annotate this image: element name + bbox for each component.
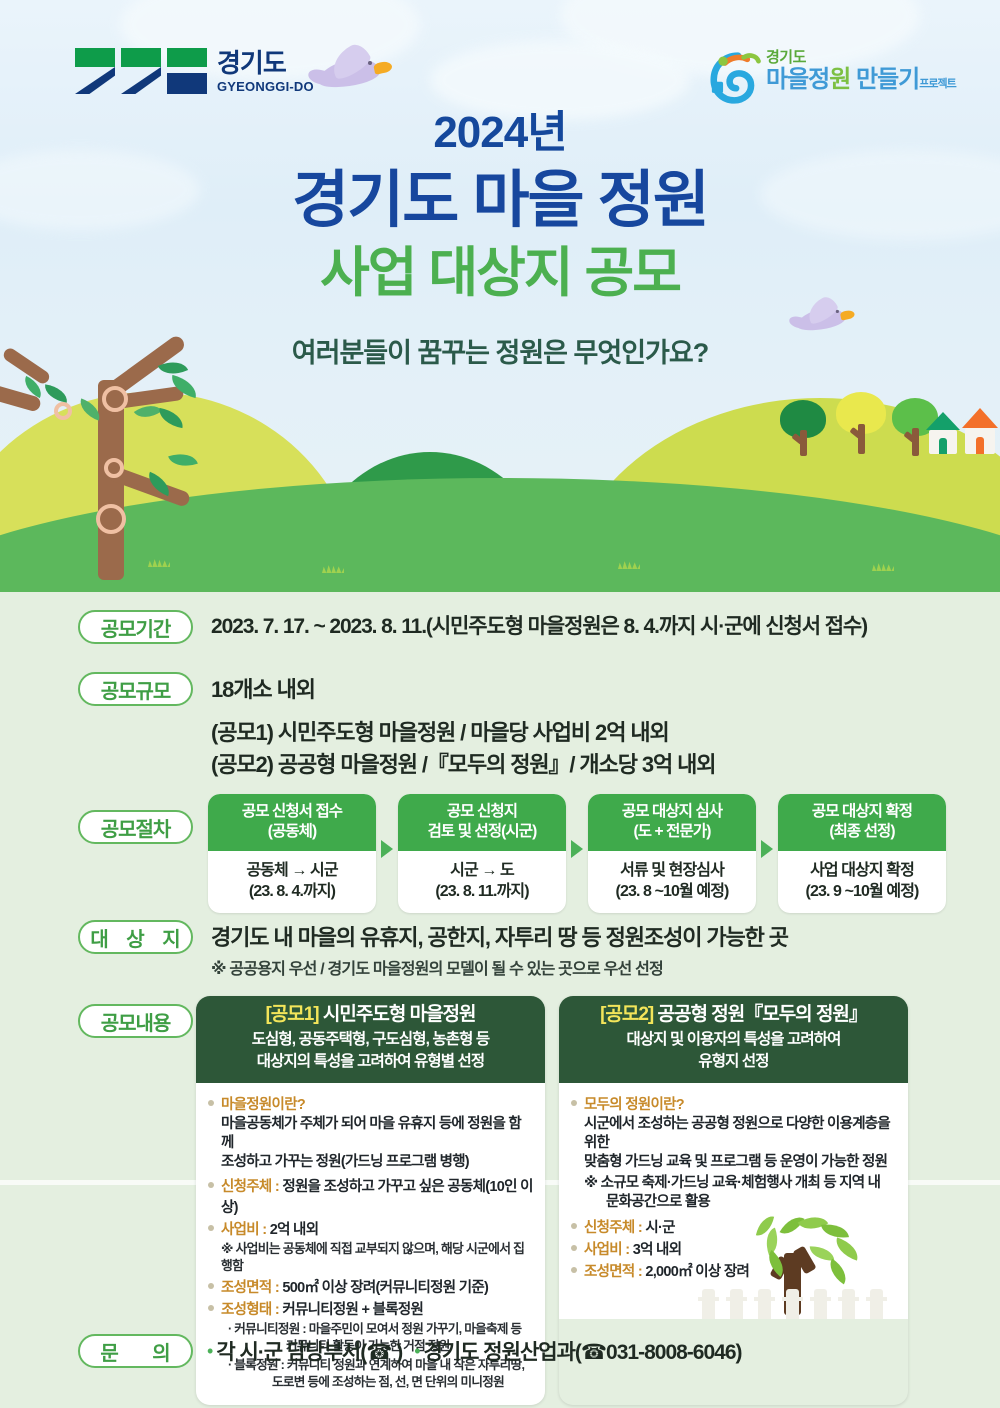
panel-2-note-line2: 문화공간으로 활용 [584,1193,896,1212]
panel-2-header: [공모2] 공공형 정원『모두의 정원』 대상지 및 이용자의 특성을 고려하여… [559,996,908,1083]
panel-1-budget-note: ※ 사업비는 공동체에 직접 교부되지 않으며, 해당 시군에서 집행함 [208,1240,533,1275]
panel-1-tag: [공모1] [265,1004,318,1025]
scale-body: 18개소 내외 (공모1) 시민주도형 마을정원 / 마을당 사업비 2억 내외… [211,672,715,781]
inquiry-text-1: 각 시·군 담당부서(☎ ) [216,1336,402,1366]
flow-arrow-icon [566,838,588,860]
label-inquiry: 문 의 [78,1334,193,1368]
gyeonggi-do-logo: 경기도 GYEONGGI-DO [75,48,314,94]
panel-2-head-label: 모두의 정원이란? [584,1097,684,1113]
panel-2-item-applicant: 신청주체 : 시·군 [571,1216,896,1237]
flow-step-body: 사업 대상지 확정 (23. 9 ~10월 예정) [778,851,946,914]
bullet-dot-icon: • [207,1341,213,1362]
title-slogan: 여러분들이 꿈꾸는 정원은 무엇인가요? [0,331,1000,370]
scale-headline: 18개소 내외 [211,674,715,706]
leaf-icon [43,384,69,402]
picket-fence-icon [702,1285,902,1319]
panel-2-item-note: ※ 소규모 축제·가드닝 교육·체험행사 개최 등 지역 내 문화공간으로 활용 [571,1174,896,1213]
panel-1-item-form: 조성형태 : 커뮤니티정원 + 블록정원 [208,1298,533,1319]
panel-1-item-area: 조성면적 : 500㎡ 이상 장려(커뮤니티정원 기준) [208,1276,533,1297]
tree-dark-green-icon [780,400,826,456]
inquiry-item-2: • 경기도 정원산업과(☎031-8008-6046) [414,1336,741,1366]
flow-arrow-icon [376,838,398,860]
panel-2-item-desc: 시군에서 조성하는 공공형 정원으로 다양한 이용계층을 위한 맞춤형 가드닝 … [571,1115,896,1173]
label-period: 공모기간 [78,610,193,644]
label-contents: 공모내용 [78,1004,193,1038]
panel-1-title: [공모1] 시민주도형 마을정원 [204,1003,537,1028]
project-logo-line2-a: 마을정 [766,66,829,93]
panel-2-subtitle-1: 대상지 및 이용자의 특성을 고려하여 [567,1030,900,1050]
village-garden-project-logo: 경기도 마을정원 만들기프로젝트 [700,42,960,108]
panel-1-budget-value: 2억 내외 [270,1222,319,1238]
bird-icon [318,48,398,92]
swirl-icon [710,50,766,106]
panel-2-area-value: 2,000㎡ 이상 장려 [645,1264,749,1280]
panel-1-item-applicant: 신청주체 : 정원을 조성하고 가꾸고 싶은 공동체(10인 이상) [208,1175,533,1217]
inquiry-text-2: 경기도 정원산업과(☎031-8008-6046) [424,1336,742,1366]
logo-label-en: GYEONGGI-DO [217,80,314,93]
flow-step-body: 시군 → 도 (23. 8. 11.까지) [398,851,566,914]
title-subtitle: 사업 대상지 공모 [0,241,1000,306]
project-logo-line1: 경기도 [766,46,956,67]
panel-1-item-desc: 마을공동체가 주체가 되어 마을 유휴지 등에 정원을 함께 조성하고 가꾸는 … [208,1115,533,1173]
row-target: 대 상 지 경기도 내 마을의 유휴지, 공한지, 자투리 땅 등 정원조성이 … [0,920,1000,982]
flow-step: 공모 대상지 확정 (최종 선정) 사업 대상지 확정 (23. 9 ~10월 … [778,794,946,913]
flow-step: 공모 신청서 접수 (공동체) 공동체 → 시군 (23. 8. 4.까지) [208,794,376,913]
flow-step: 공모 신청지 검토 및 선정(시군) 시군 → 도 (23. 8. 11.까지) [398,794,566,913]
panel-2-title: [공모2] 공공형 정원『모두의 정원』 [567,1003,900,1028]
label-process: 공모절차 [78,810,193,844]
panel-2-body: 모두의 정원이란? 시군에서 조성하는 공공형 정원으로 다양한 이용계층을 위… [559,1083,908,1319]
process-flow: 공모 신청서 접수 (공동체) 공동체 → 시군 (23. 8. 4.까지) 공… [208,794,946,913]
project-logo-line2: 마을정원 만들기프로젝트 [766,67,956,93]
panel-1-title-text: 시민주도형 마을정원 [319,1004,476,1025]
project-logo-line2-b: 원 [829,66,850,93]
row-period: 공모기간 2023. 7. 17. ~ 2023. 8. 11.(시민주도형 마… [0,610,1000,644]
gyeonggi-symbol-icon [75,48,207,94]
panel-2-tag: [공모2] [600,1004,653,1025]
panel-1-form-label: 조성형태 : [221,1302,282,1318]
flow-step-head: 공모 대상지 심사 (도 + 전문가) [588,794,756,851]
target-note: ※ 공공용지 우선 / 경기도 마을정원의 모델이 될 수 있는 곳으로 우선 … [211,958,788,982]
flow-step-body: 서류 및 현장심사 (23. 8 ~10월 예정) [588,851,756,914]
bullet-dot-icon: • [414,1341,420,1362]
panel-2-item-budget: 사업비 : 3억 내외 [571,1238,896,1259]
panel-2-item-area: 조성면적 : 2,000㎡ 이상 장려 [571,1260,896,1281]
panel-1-item-budget: 사업비 : 2억 내외 [208,1218,533,1239]
panel-1-area-value: 500㎡ 이상 장려(커뮤니티정원 기준) [282,1280,488,1296]
row-inquiry: 문 의 • 각 시·군 담당부서(☎ ) • 경기도 정원산업과(☎031-80… [0,1334,1000,1368]
panel-2-budget-label: 사업비 : [584,1242,633,1258]
content-area: 공모기간 2023. 7. 17. ~ 2023. 8. 11.(시민주도형 마… [0,592,1000,1408]
row-scale: 공모규모 18개소 내외 (공모1) 시민주도형 마을정원 / 마을당 사업비 … [0,672,1000,781]
panel-1-budget-label: 사업비 : [221,1222,270,1238]
panel-1-applicant-label: 신청주체 : [221,1179,282,1195]
house-orange-roof-icon [962,408,998,454]
period-body: 2023. 7. 17. ~ 2023. 8. 11.(시민주도형 마을정원은 … [211,610,867,642]
panel-1-area-label: 조성면적 : [221,1280,282,1296]
flow-step-body: 공동체 → 시군 (23. 8. 4.까지) [208,851,376,914]
panel-2-applicant-value: 시·군 [645,1220,674,1236]
title-year: 2024년 [0,110,1000,156]
scale-item-1: (공모1) 시민주도형 마을정원 / 마을당 사업비 2억 내외 [211,717,715,749]
target-body: 경기도 내 마을의 유휴지, 공한지, 자투리 땅 등 정원조성이 가능한 곳 … [211,920,788,982]
leaf-icon [157,408,185,428]
tree-yellow-icon [836,392,886,454]
flow-step: 공모 대상지 심사 (도 + 전문가) 서류 및 현장심사 (23. 8 ~10… [588,794,756,913]
flow-arrow-icon [756,838,778,860]
flow-step-head: 공모 신청서 접수 (공동체) [208,794,376,851]
house-green-roof-icon [926,412,960,454]
scale-item-2: (공모2) 공공형 마을정원 /『모두의 정원』/ 개소당 3억 내외 [211,749,715,781]
panel-1-header: [공모1] 시민주도형 마을정원 도심형, 공동주택형, 구도심형, 농촌형 등… [196,996,545,1083]
panel-1-head-label: 마을정원이란? [221,1097,305,1113]
poster-title-block: 2024년 경기도 마을 정원 사업 대상지 공모 여러분들이 꿈꾸는 정원은 … [0,110,1000,370]
panel-2-area-label: 조성면적 : [584,1264,645,1280]
logo-label-kr: 경기도 [217,50,314,76]
panel-1-subtitle-1: 도심형, 공동주택형, 구도심형, 농촌형 등 [204,1030,537,1050]
inquiry-item-1: • 각 시·군 담당부서(☎ ) [207,1336,402,1366]
period-text: 2023. 7. 17. ~ 2023. 8. 11.(시민주도형 마을정원은 … [211,612,867,642]
panel-2-subtitle-2: 유형지 선정 [567,1052,900,1072]
panel-1-sub-block-line2: 도로변 등에 조성하는 점, 선, 면 단위의 미니정원 [228,1374,533,1391]
flow-step-head: 공모 대상지 확정 (최종 선정) [778,794,946,851]
panel-2-applicant-label: 신청주체 : [584,1220,645,1236]
panel-2-title-text: 공공형 정원『모두의 정원』 [653,1004,867,1025]
label-target: 대 상 지 [78,920,193,954]
panel-2-item-head: 모두의 정원이란? [571,1093,896,1114]
target-text: 경기도 내 마을의 유휴지, 공한지, 자투리 땅 등 정원조성이 가능한 곳 [211,922,788,954]
label-scale: 공모규모 [78,672,193,706]
big-tree-illustration [20,352,270,592]
project-logo-line3: 프로젝트 [919,78,955,90]
panel-1-form-value: 커뮤니티정원 + 블록정원 [282,1302,423,1318]
poster-root: 경기도 GYEONGGI-DO 경기도 마을정원 만들기프로젝트 2024년 경… [0,0,1000,1408]
panel-2-note-line1: ※ 소규모 축제·가드닝 교육·체험행사 개최 등 지역 내 [584,1175,880,1191]
flow-step-head: 공모 신청지 검토 및 선정(시군) [398,794,566,851]
project-logo-line2-c: 만들기 [850,66,919,93]
panel-1-subtitle-2: 대상지의 특성을 고려하여 유형별 선정 [204,1052,537,1072]
panel-1-item-head: 마을정원이란? [208,1093,533,1114]
panel-2-budget-value: 3억 내외 [633,1242,682,1258]
title-main: 경기도 마을 정원 [0,164,1000,238]
leaf-icon [168,448,198,471]
